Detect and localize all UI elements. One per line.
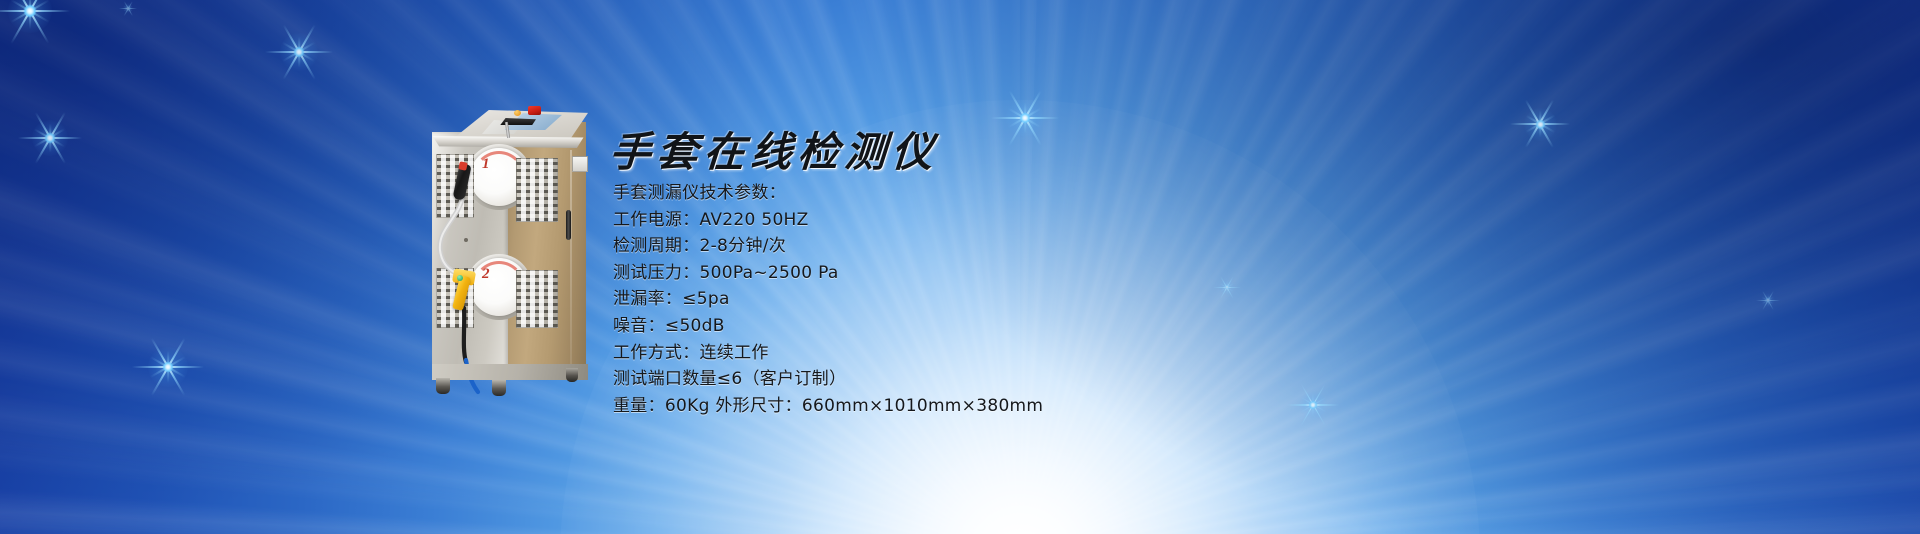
page-title: 手套在线检测仪 <box>608 118 941 178</box>
spec-line-weight-size: 重量：60Kg 外形尺寸：660mm×1010mm×380mm <box>613 393 1513 420</box>
spec-heading: 手套测漏仪技术参数： <box>613 180 1513 207</box>
spec-line-cycle: 检测周期：2-8分钟/次 <box>613 233 1513 260</box>
spec-line-pressure: 测试压力：500Pa~2500 Pa <box>613 260 1513 287</box>
spec-line-ports: 测试端口数量≤6（客户订制） <box>613 366 1513 393</box>
product-banner: 1 2 手套在线检测仪 手套测漏仪技术参数： <box>0 0 1920 534</box>
spec-list: 手套测漏仪技术参数： 工作电源：AV220 50HZ 检测周期：2-8分钟/次 … <box>613 180 1513 419</box>
spec-line-noise: 噪音：≤50dB <box>613 313 1513 340</box>
banner-content: 手套在线检测仪 手套测漏仪技术参数： 工作电源：AV220 50HZ 检测周期：… <box>0 0 1920 534</box>
spec-line-leakrate: 泄漏率：≤5pa <box>613 286 1513 313</box>
spec-line-power: 工作电源：AV220 50HZ <box>613 207 1513 234</box>
spec-line-mode: 工作方式：连续工作 <box>613 340 1513 367</box>
